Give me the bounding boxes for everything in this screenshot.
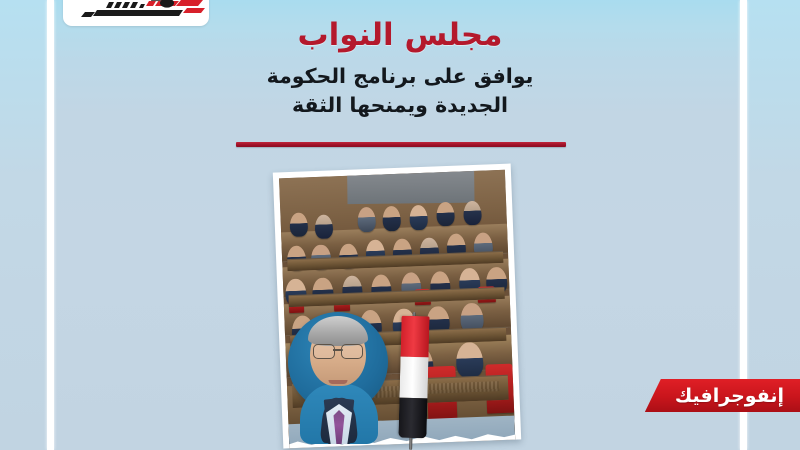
seated-member (289, 212, 308, 237)
infographic-badge[interactable]: إنفوجرافيك (645, 379, 800, 412)
infographic-poster: مجلس النواب يوافق على برنامج الحكومة الج… (0, 0, 800, 450)
seated-member (463, 200, 482, 225)
seated-member (455, 342, 483, 378)
headline-divider (236, 142, 566, 147)
seated-member (314, 214, 333, 239)
left-edge-band (0, 0, 47, 450)
left-frame-stripe (47, 0, 54, 450)
egypt-flag (398, 316, 429, 439)
infographic-badge-label: إنفوجرافيك (675, 385, 784, 407)
page-title: مجلس النواب (180, 16, 620, 55)
lens-right (341, 344, 363, 359)
speaker-portrait (282, 306, 394, 444)
portrait-mouth (329, 380, 348, 384)
headline-block: مجلس النواب يوافق على برنامج الحكومة الج… (180, 16, 620, 120)
eyeglasses-icon (313, 344, 363, 357)
portrait-shoulders (300, 384, 378, 444)
lens-left (313, 344, 335, 359)
headline-subtitle: يوافق على برنامج الحكومة الجديدة ويمنحها… (180, 62, 620, 120)
seated-member (409, 205, 428, 230)
flag-band-black (398, 397, 427, 438)
flag-band-red (401, 316, 430, 358)
headline-subtitle-line-1: يوافق على برنامج الحكومة (180, 62, 620, 91)
seated-member (382, 206, 401, 231)
flag-cloth (398, 316, 429, 439)
seated-member (357, 207, 376, 232)
seated-member (436, 201, 455, 226)
flag-band-white (399, 357, 428, 398)
headline-subtitle-line-2: الجديدة ويمنحها الثقة (180, 91, 620, 120)
